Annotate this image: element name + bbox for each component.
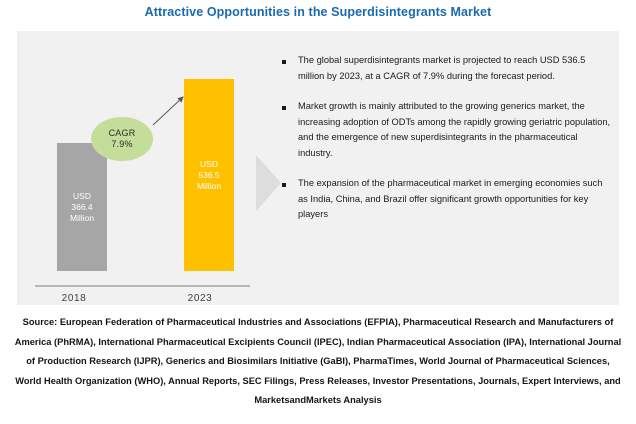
plot-region: USD 366.4 Million USD 536.5 Million <box>35 39 257 271</box>
square-bullet-icon <box>282 53 298 84</box>
list-item: The expansion of the pharmaceutical mark… <box>282 176 614 223</box>
list-item: Market growth is mainly attributed to th… <box>282 99 614 161</box>
slide-root: Attractive Opportunities in the Superdis… <box>0 0 636 424</box>
bar-chart: USD 366.4 Million USD 536.5 Million 2018… <box>17 31 275 305</box>
list-item-text: The expansion of the pharmaceutical mark… <box>298 176 614 223</box>
content-panel: USD 366.4 Million USD 536.5 Million 2018… <box>17 31 619 305</box>
bar-2023-value-label: USD 536.5 Million <box>197 159 221 192</box>
x-axis-tick-2018: 2018 <box>44 293 104 304</box>
list-item-text: Market growth is mainly attributed to th… <box>298 99 614 161</box>
x-axis-tick-2023: 2023 <box>170 293 230 304</box>
cagr-label: CAGR 7.9% <box>109 128 136 150</box>
page-title: Attractive Opportunities in the Superdis… <box>0 5 636 19</box>
square-bullet-icon <box>282 176 298 223</box>
square-bullet-icon <box>282 99 298 161</box>
cagr-callout: CAGR 7.9% <box>91 117 153 161</box>
x-axis-line <box>35 285 250 287</box>
list-item: The global superdisintegrants market is … <box>282 53 614 84</box>
bar-2023: USD 536.5 Million <box>184 79 234 271</box>
bar-2018-value-label: USD 366.4 Million <box>70 191 94 224</box>
bar-2018: USD 366.4 Million <box>57 143 107 271</box>
highlights-list: The global superdisintegrants market is … <box>282 53 614 238</box>
triangle-divider-icon <box>256 155 281 211</box>
source-citation: Source: European Federation of Pharmaceu… <box>12 313 624 411</box>
list-item-text: The global superdisintegrants market is … <box>298 53 614 84</box>
